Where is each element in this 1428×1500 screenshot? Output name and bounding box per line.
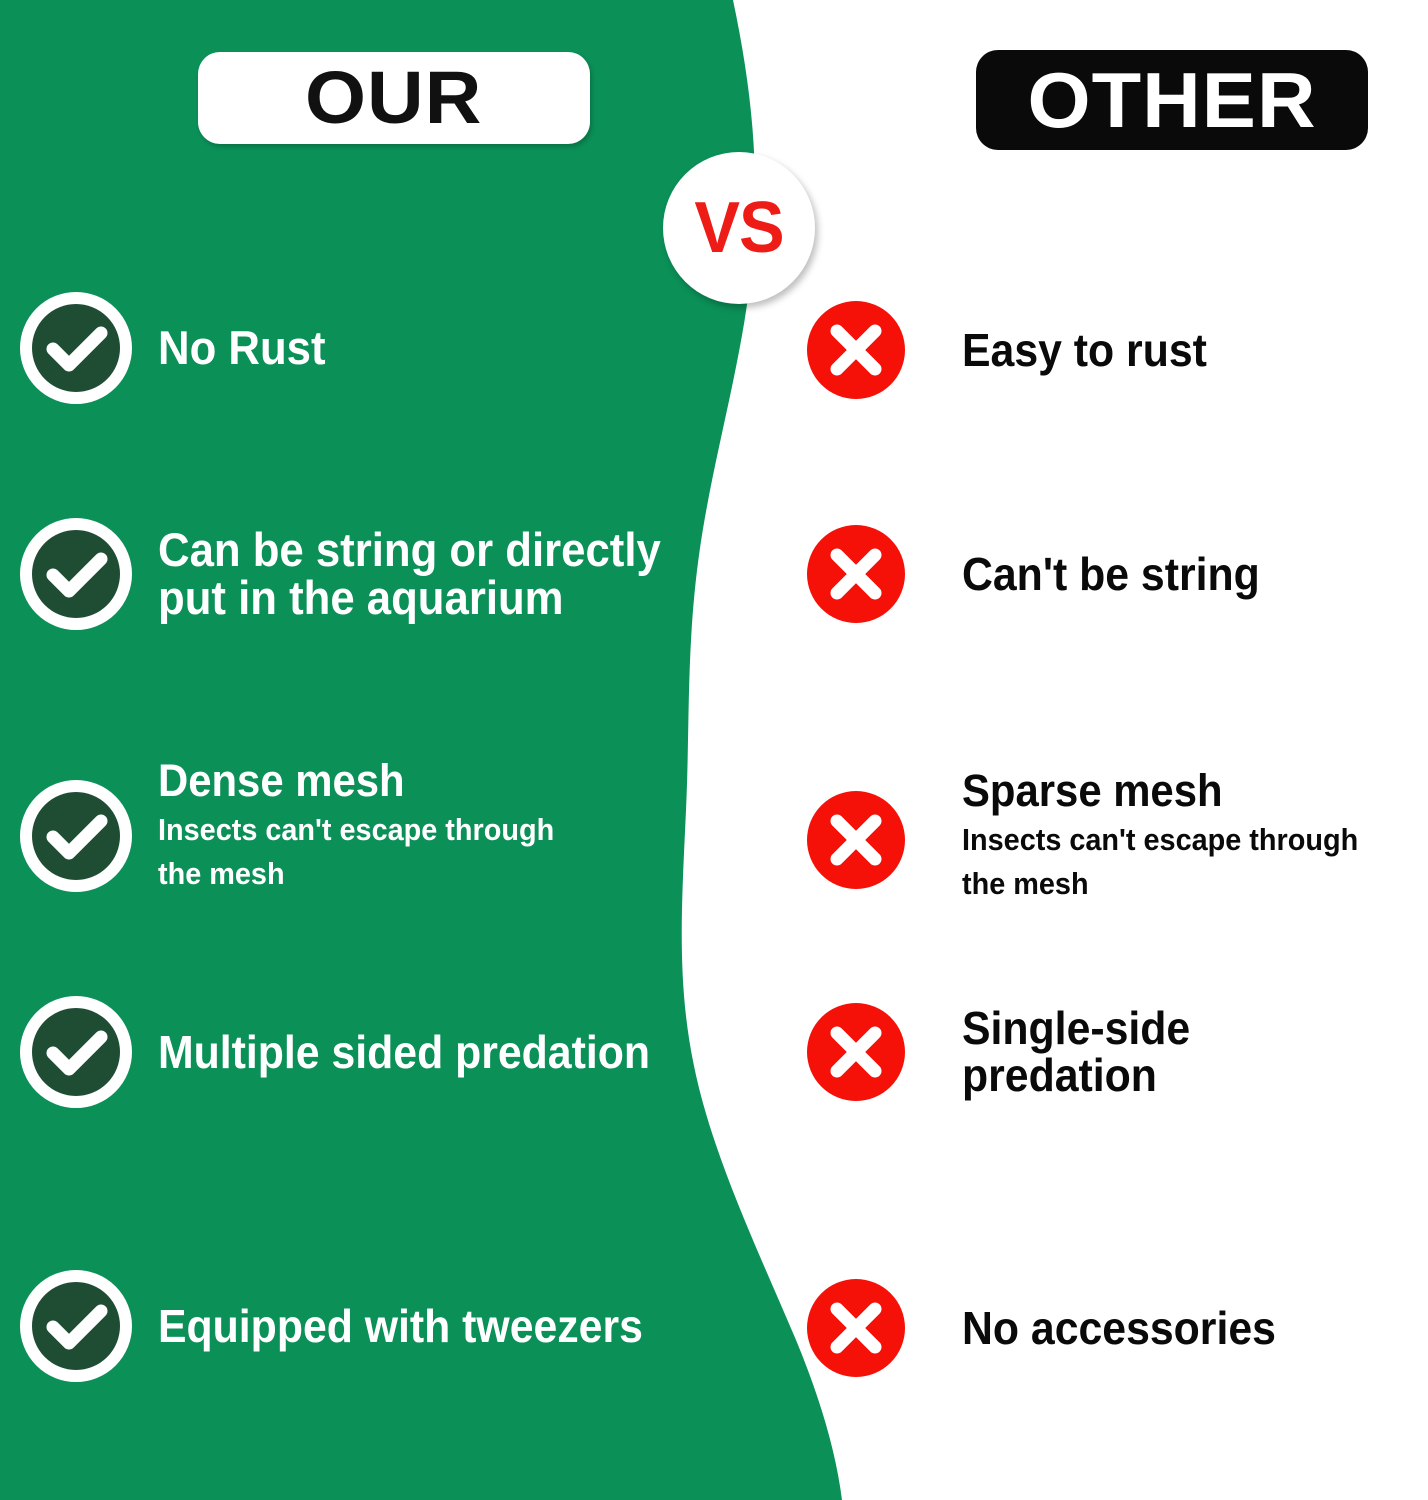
check-circle-icon xyxy=(20,1270,132,1382)
check-circle-icon xyxy=(20,518,132,630)
list-item: No accessories xyxy=(806,1278,1300,1378)
feature-subtitle: Insects can't escape through the mesh xyxy=(158,808,554,896)
other-badge-label: OTHER xyxy=(1027,61,1316,139)
x-circle-icon xyxy=(806,524,906,624)
our-badge: OUR xyxy=(198,52,590,144)
drawback-subtitle: Insects can't escape through the mesh xyxy=(962,818,1358,906)
list-item: Single-side predation xyxy=(806,1002,1428,1102)
x-circle-icon xyxy=(806,300,906,400)
drawback-title: Easy to rust xyxy=(962,327,1207,374)
list-item: Dense mesh Insects can't escape through … xyxy=(20,758,584,896)
x-circle-icon xyxy=(806,1002,906,1102)
feature-title: Can be string or directly put in the aqu… xyxy=(158,526,661,622)
vs-badge-label: VS xyxy=(694,192,783,264)
drawback-title: Sparse mesh xyxy=(962,768,1358,814)
feature-title: Dense mesh xyxy=(158,758,554,804)
feature-title: No Rust xyxy=(158,324,326,372)
check-circle-icon xyxy=(20,780,132,892)
list-item: Sparse mesh Insects can't escape through… xyxy=(806,768,1388,906)
check-circle-icon xyxy=(20,996,132,1108)
list-item: Multiple sided predation xyxy=(20,996,687,1108)
x-circle-icon xyxy=(806,1278,906,1378)
check-circle-icon xyxy=(20,292,132,404)
other-badge: OTHER xyxy=(976,50,1368,150)
our-badge-label: OUR xyxy=(305,61,483,135)
drawback-title: Can't be string xyxy=(962,551,1260,598)
feature-title: Equipped with tweezers xyxy=(158,1303,643,1350)
comparison-infographic: OUR OTHER VS No Rust Can be string or di… xyxy=(0,0,1428,1500)
list-item: No Rust xyxy=(20,292,338,404)
list-item: Can be string or directly put in the aqu… xyxy=(20,512,699,636)
feature-title: Multiple sided predation xyxy=(158,1029,650,1076)
list-item: Equipped with tweezers xyxy=(20,1270,679,1382)
drawback-title: No accessories xyxy=(962,1305,1276,1352)
x-circle-icon xyxy=(806,790,906,890)
vs-badge: VS xyxy=(663,152,815,304)
list-item: Easy to rust xyxy=(806,300,1225,400)
list-item: Can't be string xyxy=(806,524,1282,624)
drawback-title: Single-side predation xyxy=(962,1005,1395,1099)
